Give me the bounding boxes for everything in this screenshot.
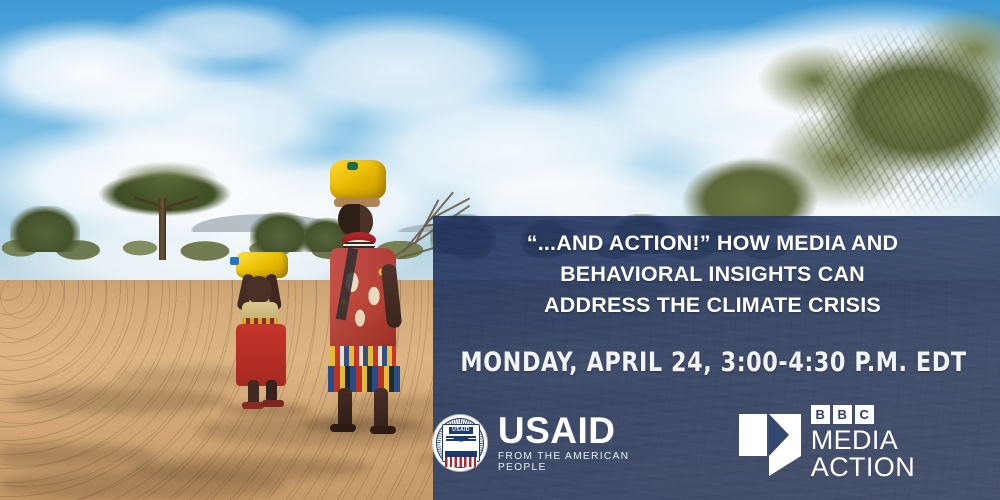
bbc-letter-c: C: [855, 405, 874, 424]
skirt-hem: [328, 366, 400, 392]
usaid-logo: USAID USAID FROM THE AMERICAN PEOPLE: [433, 413, 675, 473]
child-figure: [228, 252, 308, 412]
event-title-line-1: “...AND ACTION!” HOW MEDIA AND: [433, 228, 992, 259]
bbc-media-action-wordmark: B B C MEDIA ACTION: [811, 405, 1000, 481]
bbc-media-action-mark-icon: [739, 412, 799, 474]
event-datetime: MONDAY, APRIL 24, 3:00-4:30 P.M. EDT: [455, 347, 971, 378]
event-title-line-3: ADDRESS THE CLIMATE CRISIS: [433, 290, 992, 321]
bbc-letter-b2: B: [833, 405, 852, 424]
bbc-media-action-logo: B B C MEDIA ACTION: [739, 405, 1000, 481]
child-dress: [236, 324, 286, 386]
bbc-letter-b1: B: [811, 405, 830, 424]
event-title-line-2: BEHAVIORAL INSIGHTS CAN: [433, 259, 992, 290]
event-promo-poster: “...AND ACTION!” HOW MEDIA AND BEHAVIORA…: [0, 0, 1000, 500]
figure-shadow: [300, 418, 420, 432]
woman-hair: [338, 204, 360, 234]
mark-tail: [769, 456, 801, 476]
title-overlay-panel: “...AND ACTION!” HOW MEDIA AND BEHAVIORA…: [433, 216, 1000, 500]
child-head: [246, 276, 272, 304]
small-tree: [10, 206, 80, 252]
logo-row: USAID USAID FROM THE AMERICAN PEOPLE: [433, 398, 1000, 488]
tree-trunk: [159, 198, 166, 260]
tree-canopy-highlight: [93, 150, 239, 196]
child-sandal: [242, 402, 264, 409]
usaid-seal-icon: USAID: [433, 415, 487, 471]
mark-square: [739, 414, 767, 456]
jerrycan-icon: [330, 160, 386, 200]
bbc-letter-boxes: B B C: [811, 405, 1000, 424]
dress-band: [330, 346, 396, 368]
jerrycan-cap: [347, 162, 358, 170]
cloud: [120, 0, 320, 70]
mark-notch: [769, 414, 789, 456]
event-title: “...AND ACTION!” HOW MEDIA AND BEHAVIORA…: [433, 228, 992, 321]
woman-figure: [312, 160, 422, 410]
seal-stripes: [445, 455, 477, 467]
usaid-wordmark: USAID FROM THE AMERICAN PEOPLE: [498, 413, 675, 473]
usaid-tagline: FROM THE AMERICAN PEOPLE: [498, 451, 675, 473]
acacia-tree-icon: [75, 158, 255, 263]
seal-handshake: [442, 434, 480, 443]
woman-sandal: [370, 426, 396, 434]
child-sandal: [262, 400, 284, 407]
woman-sandal: [330, 424, 356, 432]
jerrycan-cap: [230, 257, 239, 265]
woman-leg: [374, 388, 388, 430]
woman-leg: [338, 388, 352, 428]
usaid-wordmark-text: USAID: [498, 413, 675, 449]
media-action-text: MEDIA ACTION: [811, 427, 1000, 481]
